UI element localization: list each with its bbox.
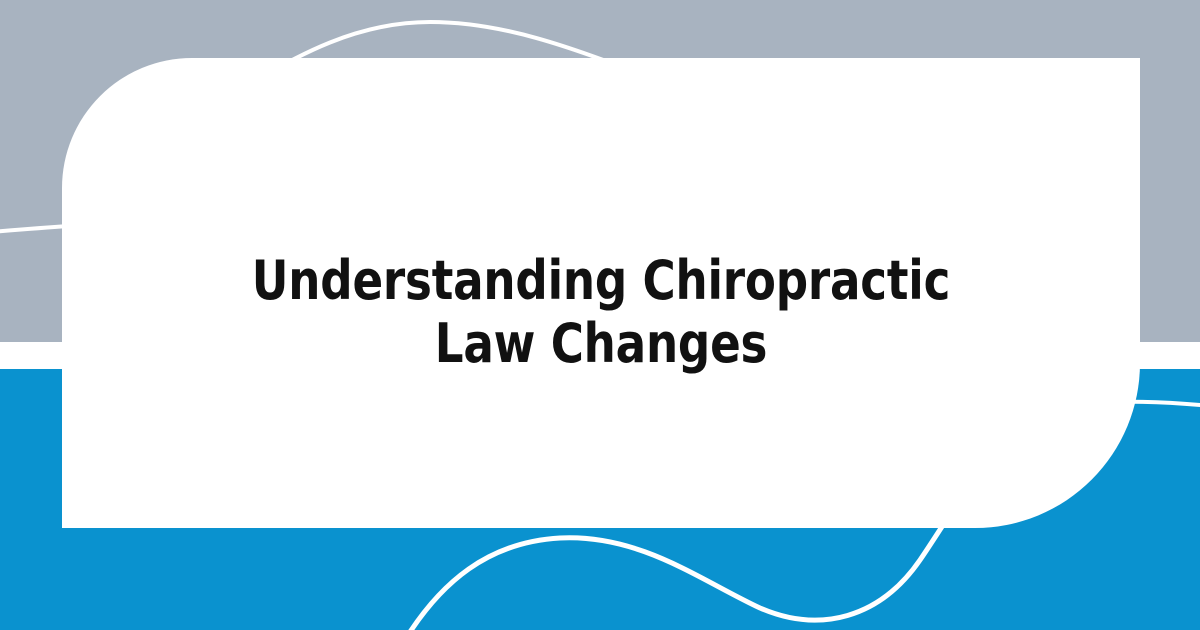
title-block: Understanding Chiropractic Law Changes — [62, 250, 1140, 375]
share-card-canvas: Understanding Chiropractic Law Changes — [0, 0, 1200, 630]
page-title: Understanding Chiropractic Law Changes — [248, 250, 955, 375]
